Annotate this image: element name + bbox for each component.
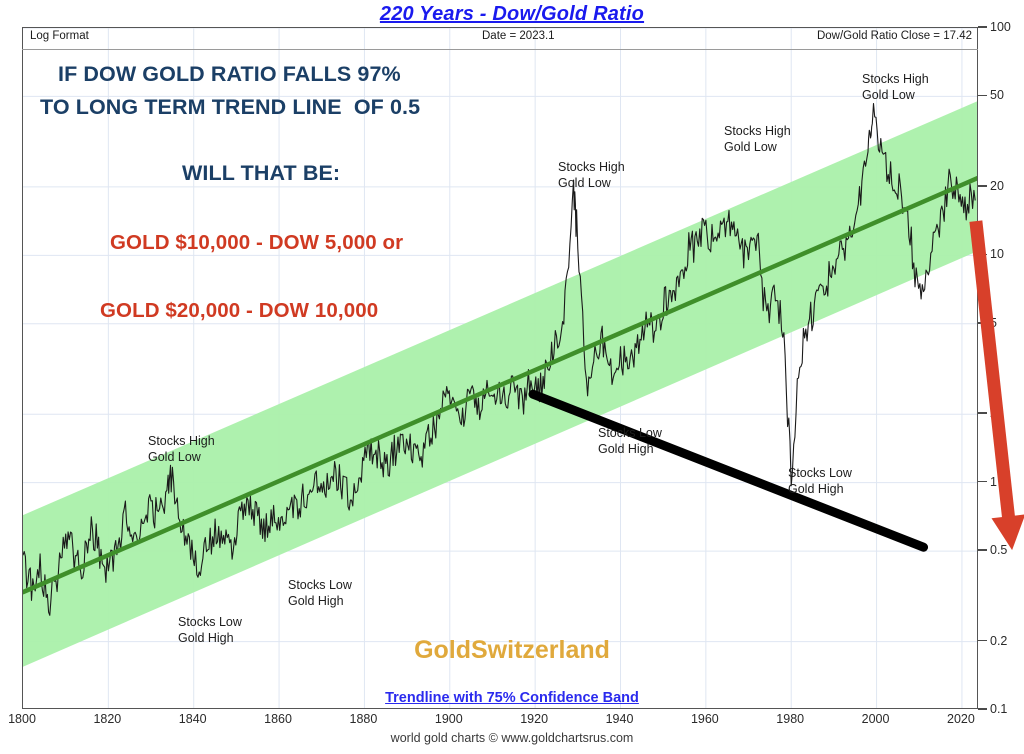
black-declining-trend bbox=[533, 394, 924, 547]
y-axis-tick bbox=[978, 412, 987, 414]
source-footer: world gold charts © www.goldchartsrus.co… bbox=[0, 731, 1024, 745]
x-axis-tick-label: 1820 bbox=[93, 712, 121, 726]
y-axis-tick bbox=[978, 26, 987, 28]
x-axis-tick-label: 1880 bbox=[350, 712, 378, 726]
callout-line-5: GOLD $20,000 - DOW 10,000 bbox=[100, 299, 378, 323]
brand-watermark: GoldSwitzerland bbox=[0, 636, 1024, 665]
y-axis-tick-label: 0.5 bbox=[990, 543, 1007, 557]
callout-line-4: GOLD $10,000 - DOW 5,000 or bbox=[110, 231, 403, 255]
series-annotation: Stocks Low Gold High bbox=[598, 426, 662, 457]
y-axis-tick bbox=[978, 322, 987, 324]
page-title: 220 Years - Dow/Gold Ratio bbox=[0, 3, 1024, 26]
y-axis-tick-label: 2 bbox=[990, 406, 997, 420]
y-axis-tick-label: 5 bbox=[990, 316, 997, 330]
x-axis-tick-label: 1920 bbox=[520, 712, 548, 726]
band-caption: Trendline with 75% Confidence Band bbox=[0, 690, 1024, 706]
x-axis-tick-label: 1940 bbox=[606, 712, 634, 726]
x-axis-tick-label: 1980 bbox=[776, 712, 804, 726]
y-axis-tick-label: 50 bbox=[990, 88, 1004, 102]
x-axis-tick-label: 1800 bbox=[8, 712, 36, 726]
x-axis-tick-label: 1840 bbox=[179, 712, 207, 726]
y-axis-tick bbox=[978, 254, 987, 256]
chart-page: 220 Years - Dow/Gold Ratio Log Format Da… bbox=[0, 0, 1024, 754]
x-axis-tick-label: 2000 bbox=[862, 712, 890, 726]
series-annotation: Stocks Low Gold High bbox=[288, 578, 352, 609]
y-axis-tick-label: 100 bbox=[990, 20, 1011, 34]
series-annotation: Stocks Low Gold High bbox=[788, 466, 852, 497]
x-axis-tick-label: 1960 bbox=[691, 712, 719, 726]
chart-canvas bbox=[23, 28, 978, 709]
series-annotation: Stocks High Gold Low bbox=[724, 124, 791, 155]
y-axis-tick bbox=[978, 481, 987, 483]
y-axis-tick bbox=[978, 549, 987, 551]
plot-area bbox=[22, 27, 978, 709]
y-axis-tick bbox=[978, 95, 987, 97]
y-axis-tick-label: 10 bbox=[990, 247, 1004, 261]
callout-line-3: WILL THAT BE: bbox=[182, 161, 340, 186]
y-axis-tick bbox=[978, 708, 987, 710]
series-annotation: Stocks High Gold Low bbox=[558, 160, 625, 191]
y-axis-tick-label: 1 bbox=[990, 475, 997, 489]
x-axis-tick-label: 2020 bbox=[947, 712, 975, 726]
x-axis-tick-label: 1900 bbox=[435, 712, 463, 726]
x-axis-tick-label: 1860 bbox=[264, 712, 292, 726]
series-annotation: Stocks High Gold Low bbox=[862, 72, 929, 103]
y-axis-tick bbox=[978, 185, 987, 187]
callout-line-2: TO LONG TERM TREND LINE OF 0.5 bbox=[40, 95, 420, 120]
y-axis-tick-label: 20 bbox=[990, 179, 1004, 193]
series-annotation: Stocks High Gold Low bbox=[148, 434, 215, 465]
callout-line-1: IF DOW GOLD RATIO FALLS 97% bbox=[58, 62, 401, 87]
